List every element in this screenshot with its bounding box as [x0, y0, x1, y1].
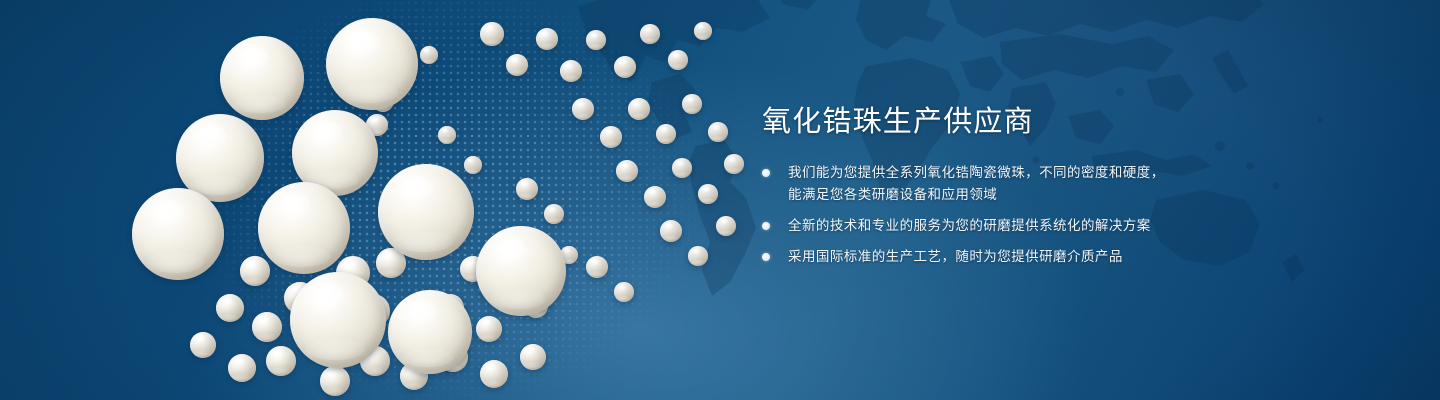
list-item: 采用国际标准的生产工艺，随时为您提供研磨介质产品: [762, 246, 1232, 268]
bullet-text-line-2: 能满足您各类研磨设备和应用领域: [788, 184, 1232, 206]
bullet-text-line-1: 全新的技术和专业的服务为您的研磨提供系统化的解决方案: [788, 218, 1151, 233]
banner-headline: 氧化锆珠生产供应商: [762, 104, 1232, 140]
promotional-banner: 氧化锆珠生产供应商 我们能为您提供全系列氧化锆陶瓷微珠，不同的密度和硬度， 能满…: [0, 0, 1440, 400]
bullet-text-line-1: 我们能为您提供全系列氧化锆陶瓷微珠，不同的密度和硬度，: [788, 165, 1165, 180]
round-bullet-icon: [762, 253, 770, 261]
banner-copy-block: 氧化锆珠生产供应商 我们能为您提供全系列氧化锆陶瓷微珠，不同的密度和硬度， 能满…: [762, 104, 1232, 268]
list-item: 我们能为您提供全系列氧化锆陶瓷微珠，不同的密度和硬度， 能满足您各类研磨设备和应…: [762, 162, 1232, 206]
list-item: 全新的技术和专业的服务为您的研磨提供系统化的解决方案: [762, 215, 1232, 237]
bullet-text-line-1: 采用国际标准的生产工艺，随时为您提供研磨介质产品: [788, 249, 1123, 264]
round-bullet-icon: [762, 169, 770, 177]
round-bullet-icon: [762, 222, 770, 230]
banner-feature-list: 我们能为您提供全系列氧化锆陶瓷微珠，不同的密度和硬度， 能满足您各类研磨设备和应…: [762, 162, 1232, 268]
